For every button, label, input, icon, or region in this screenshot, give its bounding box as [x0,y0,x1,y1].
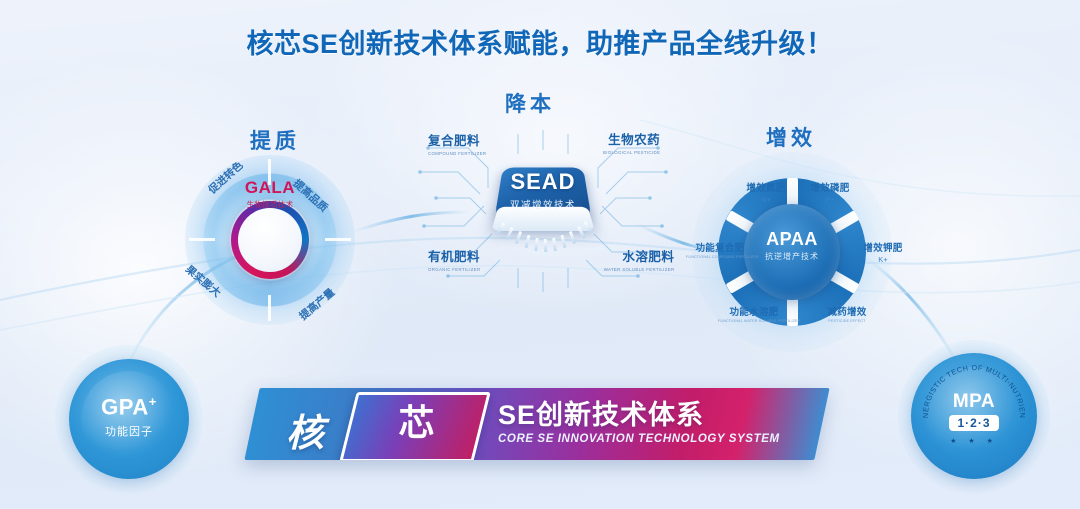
gala-core [231,201,309,279]
mpa-badge: 1·2·3 [949,415,998,431]
mpa-module[interactable]: SYNERGISTIC TECH OF MULTI-NUTRIENTS MPA … [898,340,1050,492]
sead-text: SEAD 双减增效技术 [438,171,648,211]
sead-product-1-cn: 生物农药 [600,129,660,148]
mpa-text: MPA 1·2·3 ★ ★ ★ [898,392,1050,445]
apaa-segment-1-cn: 增效磷肥 [800,180,860,194]
page-title: 核芯SE创新技术体系赋能，助推产品全线升级！ [0,22,1080,61]
gala-spoke-bottom [268,295,271,321]
sead-product-1-en: BIOLOGICAL PESTICIDE [603,150,660,155]
apaa-subtitle: 抗逆增产技术 [718,251,866,262]
section-caption-efficiency: 增效 [766,122,816,152]
apaa-segment-4: 功能水溶肥 FUNCTIONAL WATER SOLUBLE FERTILIZE… [718,304,790,324]
apaa-segment-0: 增效氮肥 N+ [736,180,796,204]
bottom-banner[interactable]: 核 芯 SE创新技术体系 CORE SE INNOVATION TECHNOLO… [244,388,829,460]
section-caption-quality: 提质 [250,125,300,155]
apaa-segment-3-en: PESTICIDE EFFECT [816,319,878,324]
gpa-module[interactable]: GPA+ 功能因子 [55,345,203,493]
apaa-segment-0-sub: N+ [736,195,796,204]
gpa-superscript: + [149,394,157,409]
banner-logo-second-box: 芯 [339,392,490,460]
sead-product-2-cn: 有机肥料 [428,246,483,265]
sead-product-0: 复合肥料 COMPOUND FERTILIZER [428,130,489,156]
sead-product-2: 有机肥料 ORGANIC FERTILIZER [428,246,483,272]
sead-subtitle: 双减增效技术 [438,197,648,211]
mpa-stars: ★ ★ ★ [898,437,1050,445]
banner-logo-first: 核 [286,402,323,457]
gala-subtitle: 生物提质技术 [185,199,355,210]
sead-acronym: SEAD [438,171,648,193]
sead-product-3-en: WATER SOLUBLE FERTILIZER [604,267,675,272]
sead-product-3: 水溶肥料 WATER SOLUBLE FERTILIZER [600,246,674,272]
banner-titles: SE创新技术体系 CORE SE INNOVATION TECHNOLOGY S… [498,401,780,445]
banner-title-en: CORE SE INNOVATION TECHNOLOGY SYSTEM [498,433,780,445]
gpa-acronym: GPA+ [55,395,203,418]
gpa-acronym-letters: GPA [101,394,149,419]
mpa-acronym: MPA [898,392,1050,411]
gpa-text: GPA+ 功能因子 [55,395,203,439]
apaa-segment-4-en: FUNCTIONAL WATER SOLUBLE FERTILIZER [718,319,790,324]
gpa-subtitle: 功能因子 [55,423,203,439]
sead-product-3-cn: 水溶肥料 [600,246,674,265]
apaa-segment-3: 减药增效 PESTICIDE EFFECT [816,304,878,324]
gala-spoke-left [189,238,215,241]
gala-acronym: GALA [185,179,355,196]
banner-logo-second: 芯 [352,405,480,441]
apaa-segment-3-cn: 减药增效 [816,304,878,318]
gala-spoke-right [325,238,351,241]
sead-product-0-en: COMPOUND FERTILIZER [428,151,486,156]
chip-pins [497,218,589,252]
apaa-segment-0-cn: 增效氮肥 [736,180,796,194]
sead-product-1: 生物农药 BIOLOGICAL PESTICIDE [600,129,660,155]
apaa-segment-4-cn: 功能水溶肥 [718,304,790,318]
section-caption-cost: 降本 [505,88,555,118]
apaa-text: APAA 抗逆增产技术 [718,230,866,262]
sead-product-2-en: ORGANIC FERTILIZER [428,267,480,272]
banner-content: 核 芯 SE创新技术体系 CORE SE INNOVATION TECHNOLO… [252,388,822,460]
apaa-segment-1: 增效磷肥 P+ [800,180,860,204]
banner-title-cn: SE创新技术体系 [498,401,780,429]
sead-product-0-cn: 复合肥料 [428,130,489,149]
apaa-acronym: APAA [718,230,866,248]
gala-text: GALA 生物提质技术 [185,179,355,210]
apaa-segment-1-sub: P+ [800,195,860,204]
infographic-canvas: 核芯SE创新技术体系赋能，助推产品全线升级！ 提质 降本 增效 GALA 生物提… [0,0,1080,509]
